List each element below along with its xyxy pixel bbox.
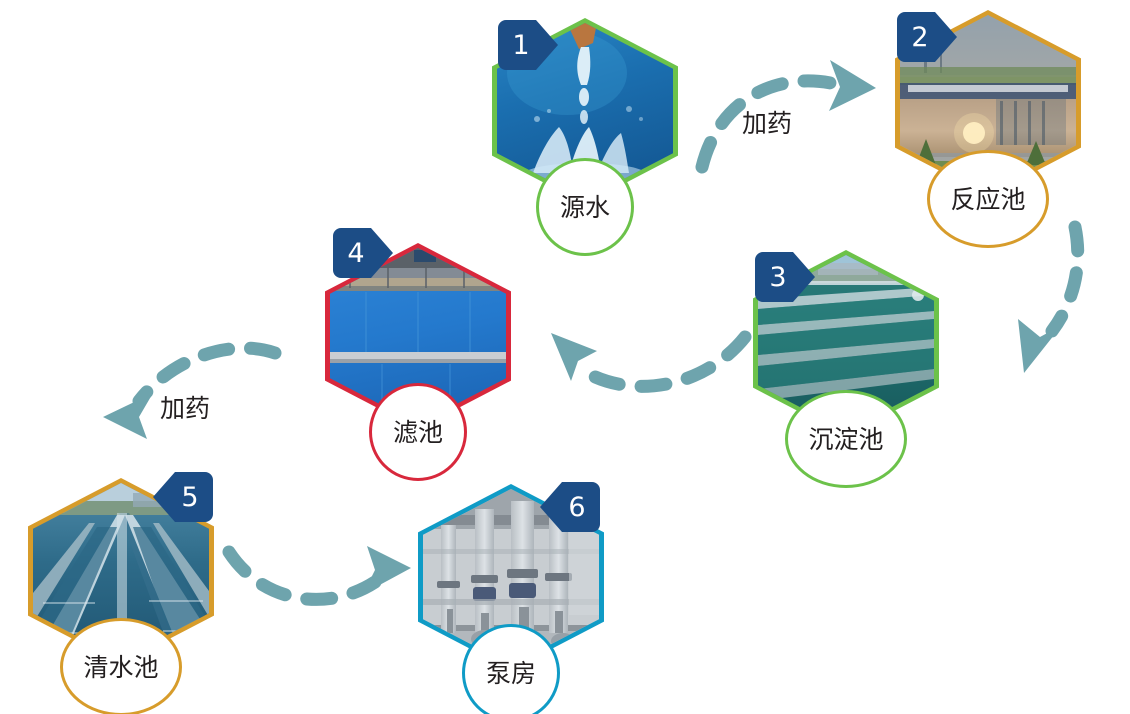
process-step-1[interactable]: 1 源水 xyxy=(492,18,678,232)
step-2-number-badge: 2 xyxy=(897,12,959,62)
step-5-number: 5 xyxy=(167,472,213,522)
connector-5-to-6 xyxy=(215,532,415,622)
step-2-caption: 反应池 xyxy=(927,150,1049,248)
connector-3-to-4 xyxy=(545,325,760,415)
step-1-label: 源水 xyxy=(560,195,610,220)
process-step-3[interactable]: 3 沉淀池 xyxy=(753,250,939,464)
step-2-label: 反应池 xyxy=(950,187,1025,212)
step-5-label: 清水池 xyxy=(83,655,158,680)
process-step-6[interactable]: 6 泵房 xyxy=(418,484,604,698)
step-1-number-badge: 1 xyxy=(498,20,560,70)
step-6-number: 6 xyxy=(554,482,600,532)
process-flow-diagram: 加药 加药 xyxy=(0,0,1130,714)
connector-4-to-5-label: 加药 xyxy=(160,389,210,425)
step-5-number-badge: 5 xyxy=(151,472,213,522)
step-4-caption: 滤池 xyxy=(369,383,467,481)
step-6-caption: 泵房 xyxy=(462,624,560,714)
step-4-number: 4 xyxy=(333,228,379,278)
step-3-number: 3 xyxy=(755,252,801,302)
process-step-4[interactable]: 4 滤池 xyxy=(325,243,511,457)
connector-2-to-3 xyxy=(1000,225,1120,385)
step-3-number-badge: 3 xyxy=(755,252,817,302)
step-4-number-badge: 4 xyxy=(333,228,395,278)
step-4-label: 滤池 xyxy=(393,420,443,445)
step-6-label: 泵房 xyxy=(486,661,536,686)
step-3-label: 沉淀池 xyxy=(808,427,883,452)
step-5-caption: 清水池 xyxy=(60,618,182,714)
step-6-number-badge: 6 xyxy=(538,482,600,532)
connector-1-to-2-label: 加药 xyxy=(742,104,792,140)
step-1-caption: 源水 xyxy=(536,158,634,256)
step-1-number: 1 xyxy=(498,20,544,70)
process-step-2[interactable]: 2 反应池 xyxy=(895,10,1081,224)
step-2-number: 2 xyxy=(897,12,943,62)
step-3-caption: 沉淀池 xyxy=(785,390,907,488)
process-step-5[interactable]: 5 清水池 xyxy=(28,478,214,692)
